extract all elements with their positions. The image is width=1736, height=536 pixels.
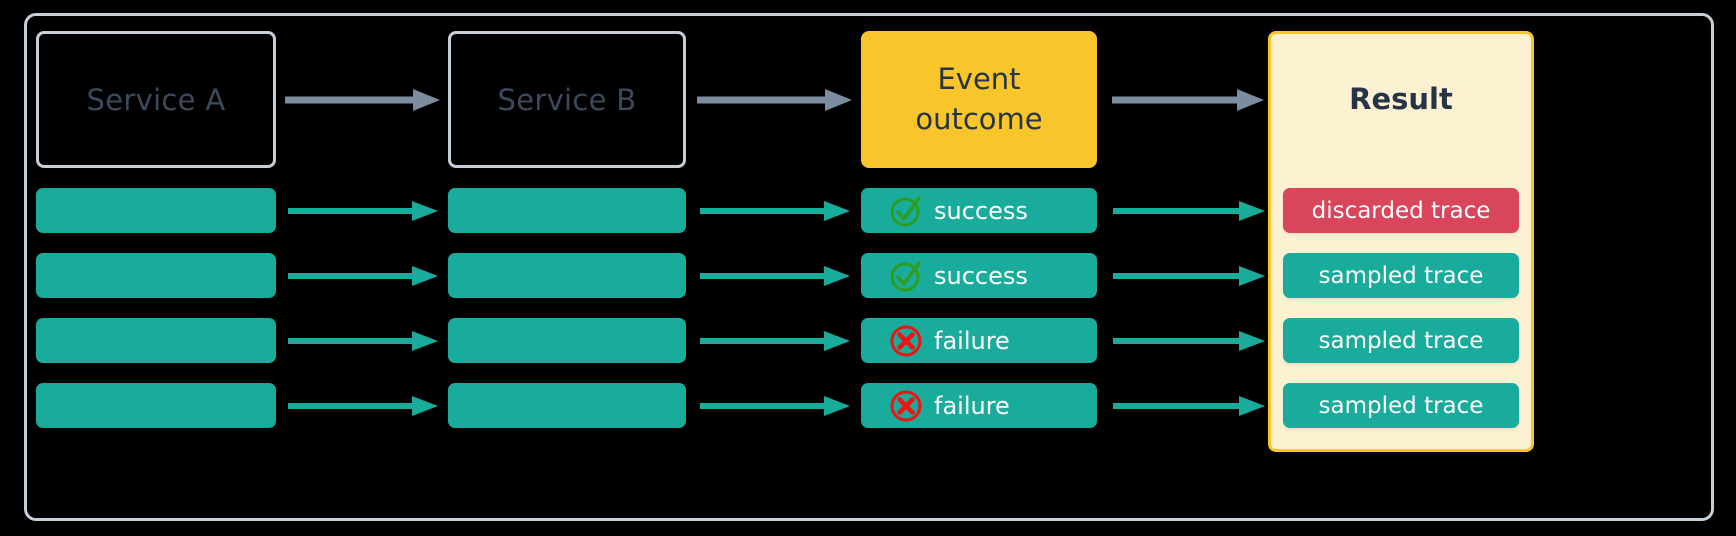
outcome-label: success <box>934 262 1028 290</box>
header-result-label: Result <box>1271 82 1531 116</box>
outcome-label: failure <box>934 392 1010 420</box>
header-event-outcome: Event outcome <box>861 31 1097 168</box>
row-arrow-a-to-b <box>288 396 438 416</box>
span-bar-service-a <box>36 253 276 298</box>
row-arrow-outcome-to-result <box>1113 266 1265 286</box>
span-bar-service-b <box>448 188 686 233</box>
header-service-a: Service A <box>36 31 276 168</box>
row-arrow-outcome-to-result <box>1113 331 1265 351</box>
outcome-label: failure <box>934 327 1010 355</box>
row-arrow-b-to-outcome <box>700 201 850 221</box>
check-circle-icon <box>889 259 923 293</box>
outcome-badge: failure <box>861 383 1097 428</box>
row-arrow-b-to-outcome <box>700 331 850 351</box>
x-circle-icon <box>889 324 923 358</box>
span-bar-service-b <box>448 318 686 363</box>
header-arrow-a-to-b <box>285 89 440 111</box>
span-bar-service-a <box>36 188 276 233</box>
row-arrow-a-to-b <box>288 331 438 351</box>
trace-sampling-diagram: Service A Service B Event outcome Result <box>0 0 1736 536</box>
header-arrow-event-to-result <box>1112 89 1264 111</box>
row-arrow-outcome-to-result <box>1113 201 1265 221</box>
header-service-a-label: Service A <box>87 83 226 117</box>
result-badge: discarded trace <box>1283 188 1519 233</box>
span-bar-service-a <box>36 318 276 363</box>
header-service-b: Service B <box>448 31 686 168</box>
span-bar-service-b <box>448 253 686 298</box>
outcome-badge: success <box>861 253 1097 298</box>
outcome-badge: failure <box>861 318 1097 363</box>
result-badge-label: sampled trace <box>1319 263 1484 289</box>
span-bar-service-a <box>36 383 276 428</box>
header-service-b-label: Service B <box>498 83 637 117</box>
span-bar-service-b <box>448 383 686 428</box>
header-event-outcome-line2: outcome <box>915 100 1042 139</box>
result-badge-label: sampled trace <box>1319 393 1484 419</box>
row-arrow-a-to-b <box>288 201 438 221</box>
row-arrow-outcome-to-result <box>1113 396 1265 416</box>
result-badge-label: sampled trace <box>1319 328 1484 354</box>
header-arrow-b-to-event <box>697 89 852 111</box>
row-arrow-b-to-outcome <box>700 396 850 416</box>
header-event-outcome-line1: Event <box>915 60 1042 99</box>
row-arrow-b-to-outcome <box>700 266 850 286</box>
row-arrow-a-to-b <box>288 266 438 286</box>
outcome-label: success <box>934 197 1028 225</box>
result-badge: sampled trace <box>1283 383 1519 428</box>
result-badge: sampled trace <box>1283 318 1519 363</box>
result-badge: sampled trace <box>1283 253 1519 298</box>
outcome-badge: success <box>861 188 1097 233</box>
x-circle-icon <box>889 389 923 423</box>
check-circle-icon <box>889 194 923 228</box>
result-badge-label: discarded trace <box>1312 198 1491 224</box>
